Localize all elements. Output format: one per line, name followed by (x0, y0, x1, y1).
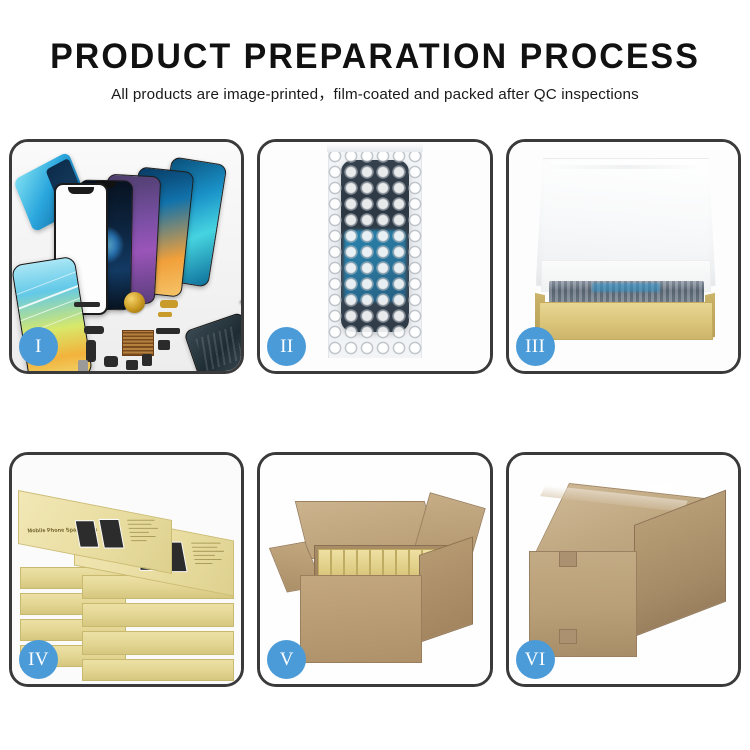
header: PRODUCT PREPARATION PROCESS All products… (0, 36, 750, 105)
process-step-grid: I II III (9, 139, 741, 687)
retail-box-side-r2 (82, 603, 234, 627)
earpiece-part (74, 302, 100, 307)
button-part (142, 354, 152, 366)
carton-front-face-sealed (529, 551, 637, 657)
copper-coil-part (124, 292, 145, 313)
page-title: PRODUCT PREPARATION PROCESS (11, 36, 739, 78)
mailer-box-base (539, 302, 713, 340)
retail-box-side-r4 (82, 659, 234, 681)
sim-tray-part (78, 360, 88, 374)
speaker-part (104, 356, 118, 367)
vibrator-part (126, 360, 138, 370)
process-step-panel-4: Mobile Phone Spare Parts Mobile Phone Sp… (9, 452, 244, 687)
box-spec-lines-2 (191, 543, 229, 567)
retail-box-side-r3 (82, 631, 234, 655)
bubble-wrap-outlines (327, 148, 423, 356)
carton-tab-upper (559, 551, 577, 567)
carton-front-face (300, 575, 422, 663)
process-step-panel-6: VI (506, 452, 741, 687)
box-spec-lines-1 (127, 520, 165, 544)
mesh-grid-part (122, 330, 154, 356)
gold-connector-part (160, 300, 178, 308)
step-badge-3: III (516, 327, 555, 366)
process-step-panel-5: V (257, 452, 492, 687)
process-step-panel-2: II (257, 139, 492, 374)
product-preparation-infographic: PRODUCT PREPARATION PROCESS All products… (0, 0, 750, 750)
box-art-screen-1 (75, 520, 100, 548)
carton-tab-lower (559, 629, 577, 644)
page-subtitle: All products are image-printed，film-coat… (0, 85, 750, 105)
spare-parts-cluster (74, 290, 244, 374)
camera-module-part (86, 340, 96, 362)
ribbon-cable-part (156, 328, 180, 334)
process-step-panel-3: III (506, 139, 741, 374)
carton-right-face (419, 536, 473, 643)
gold-flex-part (158, 312, 172, 317)
ic-chip-part (158, 340, 170, 350)
box-art-screen-2 (98, 519, 124, 549)
process-step-panel-1: I (9, 139, 244, 374)
step-badge-1: I (19, 327, 58, 366)
sleeve-seal-edge (327, 142, 423, 152)
sealed-shipping-carton (527, 477, 725, 667)
flex-cable-part (84, 326, 104, 334)
step-badge-6: VI (516, 640, 555, 679)
step-badge-4: IV (19, 640, 58, 679)
open-shipping-carton (274, 483, 474, 663)
phone-back-housing (183, 312, 244, 374)
